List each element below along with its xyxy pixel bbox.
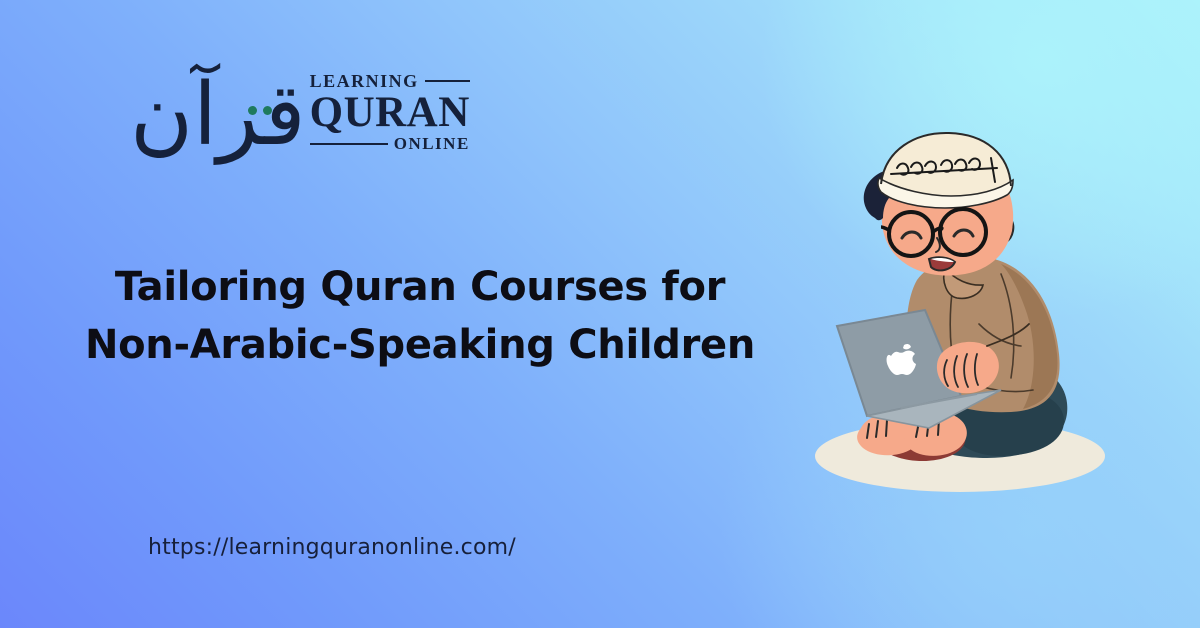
page-title: Tailoring Quran Courses for Non-Arabic-S…	[60, 258, 780, 374]
page-title-line-1: Tailoring Quran Courses for	[60, 258, 780, 316]
site-logo[interactable]: قرآن LEARNING QURAN ONLINE	[130, 52, 370, 172]
logo-text-online: ONLINE	[394, 135, 470, 152]
logo-row-quran: QURAN	[310, 90, 470, 135]
logo-rule-left	[310, 143, 388, 145]
logo-text-learning: LEARNING	[310, 72, 419, 90]
logo-accent-dots	[248, 106, 272, 115]
page-title-line-2: Non-Arabic-Speaking Children	[60, 316, 780, 374]
logo-wordmark: LEARNING QURAN ONLINE	[310, 72, 470, 152]
website-url[interactable]: https://learningquranonline.com/	[148, 535, 516, 560]
logo-arabic-text: قرآن	[130, 65, 306, 165]
boy-with-laptop-illustration	[805, 128, 1105, 488]
banner-root: قرآن LEARNING QURAN ONLINE Tailoring Qur…	[0, 0, 1200, 628]
logo-row-learning: LEARNING	[310, 72, 470, 90]
logo-rule-right	[425, 80, 470, 82]
logo-row-online: ONLINE	[310, 135, 470, 152]
logo-text-quran: QURAN	[310, 91, 470, 134]
logo-arabic-calligraphy: قرآن	[130, 72, 306, 158]
